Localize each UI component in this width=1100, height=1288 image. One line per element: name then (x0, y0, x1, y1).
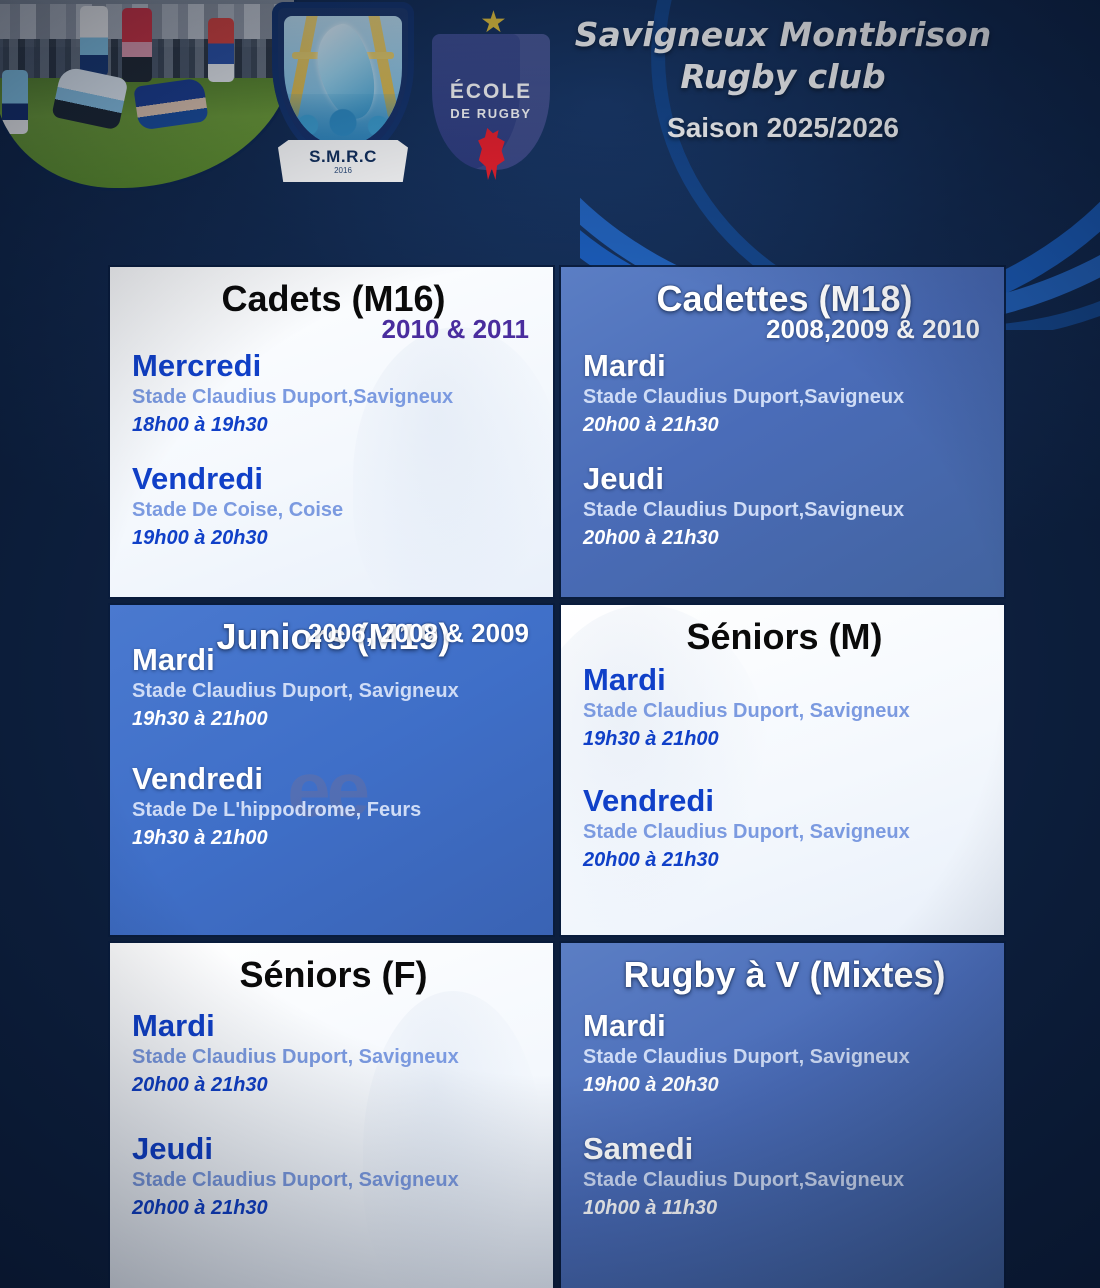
slot-day: Mardi (583, 663, 986, 697)
slot-time: 10h00 à 11h30 (583, 1196, 986, 1221)
schedule-card-seniors-f[interactable]: Séniors (F) Mardi Stade Claudius Duport,… (110, 943, 553, 1288)
slot-venue: Stade Claudius Duport, Savigneux (132, 679, 535, 704)
schedule-card-seniors-m[interactable]: Séniors (M) Mardi Stade Claudius Duport,… (561, 605, 1004, 935)
schedule-slot: Samedi Stade Claudius Duport,Savigneux 1… (583, 1132, 986, 1221)
slot-day: Mercredi (132, 349, 535, 383)
school-logo-line1: ÉCOLE (432, 80, 550, 104)
schedule-slot: Mardi Stade Claudius Duport,Savigneux 20… (583, 349, 986, 438)
schedule-slot: Vendredi Stade De L'hippodrome, Feurs 19… (132, 762, 535, 851)
club-logo-name: S.M.R.C (309, 148, 377, 165)
slot-day: Mardi (132, 643, 535, 677)
slot-venue: Stade Claudius Duport, Savigneux (583, 699, 986, 724)
club-title-line1: Savigneux Montbrison (568, 14, 998, 56)
schedule-slot: Jeudi Stade Claudius Duport, Savigneux 2… (132, 1132, 535, 1221)
schedule-slot: Mardi Stade Claudius Duport, Savigneux 1… (583, 663, 986, 752)
slot-venue: Stade Claudius Duport,Savigneux (132, 385, 535, 410)
card-title: Cadettes (M18) (583, 279, 986, 319)
wave-icon (284, 94, 402, 146)
slot-venue: Stade Claudius Duport, Savigneux (132, 1168, 535, 1193)
schedule-card-juniors-m19[interactable]: ee Juniors (M19) 2006, 2008 & 2009 Mardi… (110, 605, 553, 935)
slot-time: 19h30 à 21h00 (583, 727, 986, 752)
school-logo: ÉCOLE DE RUGBY (432, 12, 550, 170)
slot-day: Vendredi (132, 762, 535, 796)
slot-day: Mardi (583, 1009, 986, 1043)
slot-time: 18h00 à 19h30 (132, 413, 535, 438)
schedule-slot: Vendredi Stade De Coise, Coise 19h00 à 2… (132, 462, 535, 551)
schedule-slot: Mardi Stade Claudius Duport, Savigneux 2… (132, 1009, 535, 1098)
rugby-match-photo (0, 0, 294, 188)
slot-time: 20h00 à 21h30 (132, 1073, 535, 1098)
schedule-slot: Jeudi Stade Claudius Duport,Savigneux 20… (583, 462, 986, 551)
slot-time: 20h00 à 21h30 (583, 526, 986, 551)
slot-day: Samedi (583, 1132, 986, 1166)
slot-day: Mardi (583, 349, 986, 383)
slot-venue: Stade De Coise, Coise (132, 498, 535, 523)
slot-time: 19h00 à 20h30 (583, 1073, 986, 1098)
schedule-slot: Vendredi Stade Claudius Duport, Savigneu… (583, 784, 986, 873)
school-logo-line2: DE RUGBY (432, 106, 550, 121)
shield-icon (272, 2, 414, 162)
schedule-slot: Mardi Stade Claudius Duport, Savigneux 1… (583, 1009, 986, 1098)
photo-player-2 (80, 6, 108, 76)
slot-time: 19h00 à 20h30 (132, 526, 535, 551)
slot-venue: Stade Claudius Duport, Savigneux (583, 820, 986, 845)
photo-referee (122, 8, 152, 82)
slot-day: Vendredi (132, 462, 535, 496)
schedule-card-cadets-m16[interactable]: Cadets (M16) 2010 & 2011 Mercredi Stade … (110, 267, 553, 597)
slot-venue: Stade Claudius Duport, Savigneux (583, 1045, 986, 1070)
slot-day: Mardi (132, 1009, 535, 1043)
card-years: 2008,2009 & 2010 (583, 315, 980, 344)
slot-venue: Stade Claudius Duport,Savigneux (583, 385, 986, 410)
poster-root: S.M.R.C 2016 ÉCOLE DE RUGBY Savigneux Mo… (0, 0, 1100, 1288)
club-title: Savigneux Montbrison Rugby club (568, 14, 998, 98)
schedule-card-cadettes-m18[interactable]: Cadettes (M18) 2008,2009 & 2010 Mardi St… (561, 267, 1004, 597)
card-title: Séniors (M) (583, 617, 986, 657)
photo-player-5 (208, 18, 234, 82)
club-logo: S.M.R.C 2016 (268, 0, 418, 186)
slot-venue: Stade Claudius Duport, Savigneux (132, 1045, 535, 1070)
slot-venue: Stade Claudius Duport,Savigneux (583, 1168, 986, 1193)
slot-time: 19h30 à 21h00 (132, 707, 535, 732)
slot-day: Vendredi (583, 784, 986, 818)
slot-time: 20h00 à 21h30 (583, 413, 986, 438)
schedule-grid: Cadets (M16) 2010 & 2011 Mercredi Stade … (110, 267, 1004, 1288)
card-title: Rugby à V (Mixtes) (583, 955, 986, 995)
slot-time: 20h00 à 21h30 (132, 1196, 535, 1221)
shield-icon-school: ÉCOLE DE RUGBY (432, 34, 550, 170)
slot-day: Jeudi (583, 462, 986, 496)
club-title-line2: Rugby club (568, 56, 998, 98)
card-years: 2010 & 2011 (132, 315, 529, 344)
season-label: Saison 2025/2026 (568, 112, 998, 144)
slot-time: 20h00 à 21h30 (583, 848, 986, 873)
slot-day: Jeudi (132, 1132, 535, 1166)
card-title: Cadets (M16) (132, 279, 535, 319)
shield-inner (284, 16, 402, 146)
photo-player-1 (2, 70, 28, 134)
slot-venue: Stade De L'hippodrome, Feurs (132, 798, 535, 823)
schedule-slot: Mardi Stade Claudius Duport, Savigneux 1… (132, 643, 535, 732)
club-logo-year: 2016 (334, 167, 352, 175)
schedule-slot: Mercredi Stade Claudius Duport,Savigneux… (132, 349, 535, 438)
club-logo-ribbon: S.M.R.C 2016 (278, 140, 408, 182)
card-title: Séniors (F) (132, 955, 535, 995)
slot-time: 19h30 à 21h00 (132, 826, 535, 851)
schedule-card-rugby-a-v[interactable]: Rugby à V (Mixtes) Mardi Stade Claudius … (561, 943, 1004, 1288)
slot-venue: Stade Claudius Duport,Savigneux (583, 498, 986, 523)
